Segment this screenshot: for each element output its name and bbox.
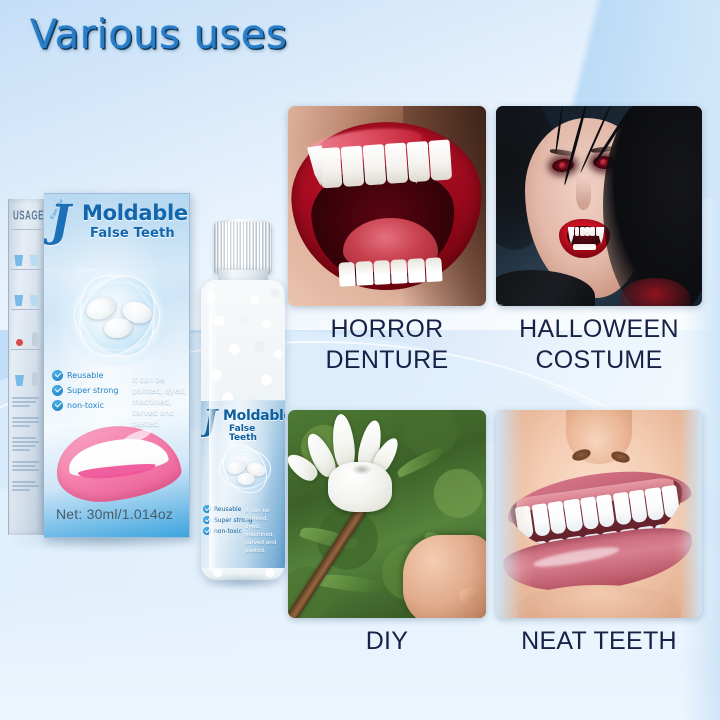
product-name-line2: False Teeth [90,227,175,240]
use-case-cell[interactable] [496,410,702,618]
pellet-shape [237,473,255,485]
feature-label: Reusable [67,371,103,380]
brand-lockup: J Eam-yhe Moldable False Teeth [50,202,186,256]
nose [576,177,591,209]
check-icon [52,370,63,381]
warning-icon [16,339,23,346]
feature-bullet: Super strong [52,385,128,396]
use-case-caption: DIY [288,626,486,657]
use-case-caption: HALLOWEEN COSTUME [496,314,702,376]
cup-icon [14,295,23,306]
feature-bullet: Reusable [52,370,128,381]
pupil [559,162,567,170]
product-name-line1: Moldable [223,409,285,423]
vampire-fangs-mouth-photo[interactable] [288,106,486,306]
thumb [457,585,480,606]
carton-side-heading: USAGE [13,208,44,222]
page-title: Various uses [30,12,287,58]
product-description: It can be painted, dyed, machined, carve… [245,507,285,555]
carton-side-panel: USAGE [8,199,44,535]
cup-icon [14,255,23,266]
usage-step-icon-row [11,229,42,269]
product-carton: USAGE [8,193,190,538]
hair-right [603,106,702,306]
smile-illustration [56,426,180,500]
person-icon [32,372,38,386]
white-smile-photo[interactable] [496,410,702,618]
stud-icon [497,304,504,306]
check-icon [52,400,63,411]
moldable-hand-sculpture [296,418,419,518]
feature-label: non-toxic [67,401,104,410]
carton-side-fineprint [12,397,41,491]
usage-step-icon-row [11,269,42,309]
use-case-grid: HORROR DENTURE [288,106,706,642]
usage-step-icon-row [11,309,42,349]
vampire-woman-photo[interactable] [496,106,702,306]
use-case-cell[interactable] [288,410,486,618]
cup-icon [30,255,39,266]
net-value: 30ml/1.014oz [87,506,173,522]
use-case-caption: HORROR DENTURE [288,314,486,376]
human-hand [403,535,486,618]
lower-teeth [573,244,596,250]
use-case-cell[interactable] [496,106,702,306]
cup-icon [30,295,39,306]
pellets-orb-graphic [60,266,176,366]
feature-label: Reusable [214,506,241,513]
product-name-line1: Moldable [82,203,188,224]
bottle-shadow [203,574,283,590]
person-icon [32,332,38,346]
carton-usage-icon-grid [11,229,42,389]
use-case-caption: NEAT TEETH [496,626,702,657]
bottle-cap [214,222,272,274]
feature-bullet: non-toxic [52,400,128,411]
carton-front-panel: J Eam-yhe Moldable False Teeth [44,193,190,538]
feature-bullet-list: Reusable Super strong non-toxic [52,370,128,415]
photo-edge-right [673,410,702,618]
use-case-cell[interactable] [288,106,486,306]
net-label: Net: [56,506,82,522]
product-description: It can be painted, dyed, machined, carve… [132,374,188,429]
promo-banner: Various uses USAGE [0,0,720,720]
usage-step-icon-row [11,349,42,389]
check-icon [52,385,63,396]
photo-edge-left [496,410,533,618]
pellets-orb-graphic [213,441,279,495]
net-volume: Net: 30ml/1.014oz [56,506,173,522]
product-pack-group: USAGE [8,193,298,593]
feature-label: Super strong [67,386,118,395]
product-bottle: J Moldable False Teeth Reusable [187,222,299,587]
cup-icon [15,375,24,386]
moldable-hand-on-stick-photo[interactable] [288,410,486,618]
feature-label: non-toxic [214,528,242,535]
bottle-highlight [209,284,218,572]
